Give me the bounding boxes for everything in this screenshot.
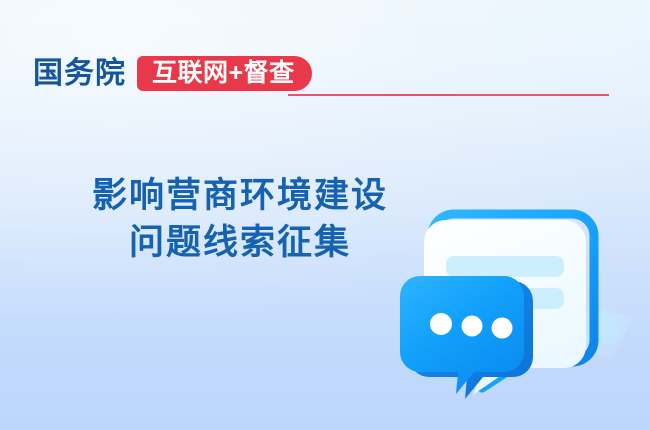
dot-1 (430, 313, 452, 335)
page-title-line-1: 影响营商环境建设 (0, 172, 480, 219)
status-badge: 互联网+督查 (137, 56, 312, 91)
page-title-line-2: 问题线索征集 (0, 219, 480, 266)
dot-3 (492, 318, 513, 339)
status-badge-label: 互联网+督查 (152, 60, 295, 86)
banner-root: 国务院 互联网+督查 影响营商环境建设 问题线索征集 (0, 0, 650, 430)
header: 国务院 互联网+督查 (33, 56, 312, 91)
org-name: 国务院 (33, 57, 126, 91)
page-title: 影响营商环境建设 问题线索征集 (0, 172, 480, 266)
header-divider (288, 94, 609, 96)
dot-2 (462, 316, 483, 337)
